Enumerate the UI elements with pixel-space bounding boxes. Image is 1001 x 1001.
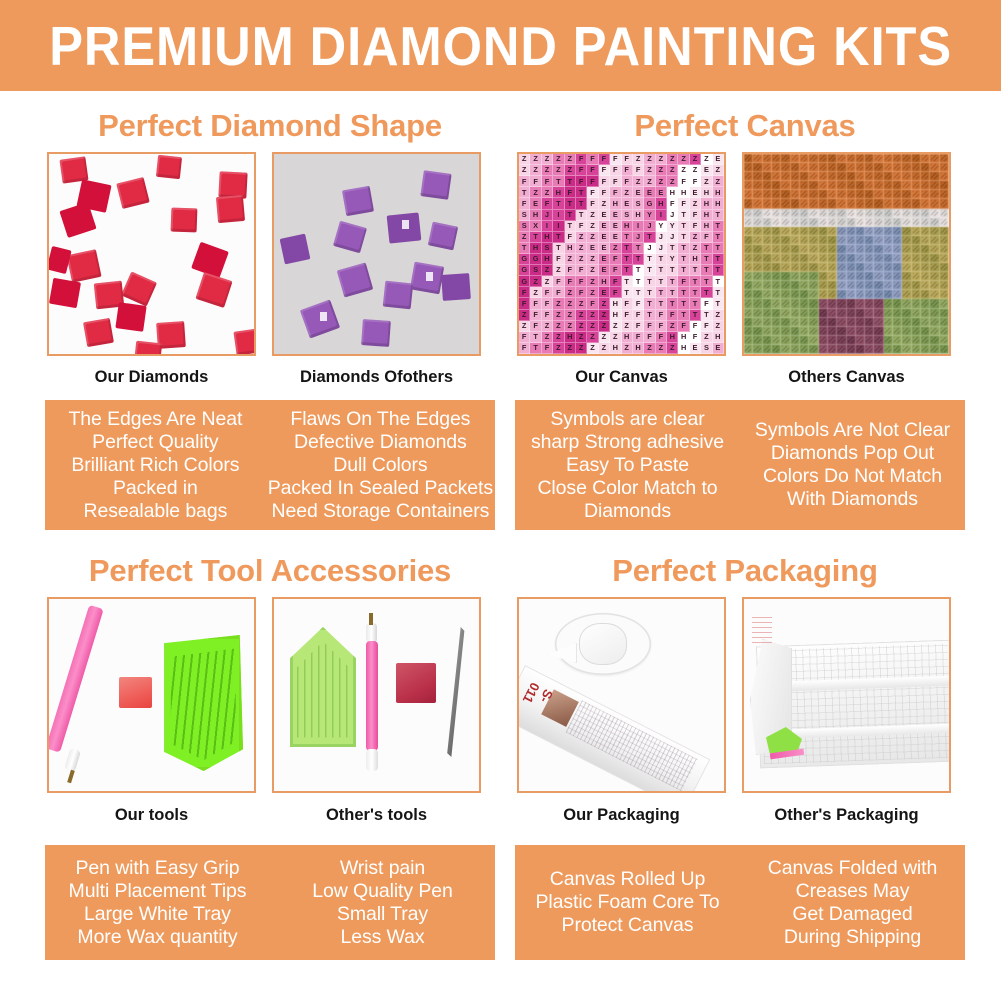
canvas-symbol-cell	[753, 245, 762, 254]
panel-packaging-others: Canvas Folded with Creases May Get Damag…	[740, 845, 965, 960]
canvas-symbol-cell	[856, 199, 865, 208]
canvas-symbol-cell: F	[656, 310, 667, 321]
canvas-symbol-cell: Z	[587, 265, 598, 276]
canvas-symbol-cell	[847, 227, 856, 236]
canvas-symbol-cell	[874, 172, 883, 181]
canvas-symbol-cell	[828, 154, 837, 163]
canvas-symbol-cell	[865, 209, 874, 218]
canvas-symbol-cell	[912, 263, 921, 272]
canvas-symbol-cell	[800, 254, 809, 263]
canvas-symbol-cell: F	[553, 276, 564, 287]
canvas-symbol-cell: X	[530, 221, 541, 232]
canvas-symbol-cell: Z	[530, 187, 541, 198]
canvas-symbol-cell: G	[530, 254, 541, 265]
canvas-symbol-cell	[819, 199, 828, 208]
canvas-symbol-cell	[874, 281, 883, 290]
canvas-symbol-cell: T	[678, 287, 689, 298]
canvas-symbol-cell	[744, 209, 753, 218]
canvas-symbol-cell	[800, 299, 809, 308]
photo-others-canvas	[742, 152, 951, 356]
canvas-symbol-cell	[772, 163, 781, 172]
panel-line: Easy To Paste	[566, 454, 689, 477]
canvas-symbol-cell: T	[622, 287, 633, 298]
panel-line: Canvas Folded with	[768, 857, 937, 880]
canvas-symbol-cell	[847, 281, 856, 290]
canvas-symbol-cell	[753, 254, 762, 263]
panel-line: Less Wax	[340, 926, 424, 949]
photo-others-packaging	[742, 597, 951, 793]
canvas-symbol-cell: F	[656, 332, 667, 343]
canvas-symbol-cell	[856, 290, 865, 299]
canvas-symbol-cell: Z	[530, 154, 541, 165]
caption-our-canvas: Our Canvas	[517, 368, 726, 387]
canvas-symbol-cell	[893, 254, 902, 263]
canvas-symbol-cell	[902, 327, 911, 336]
canvas-symbol-cell	[930, 336, 939, 345]
canvas-symbol-cell: Z	[542, 165, 553, 176]
canvas-symbol-cell: Z	[713, 321, 724, 332]
canvas-symbol-cell	[753, 336, 762, 345]
canvas-symbol-cell	[809, 272, 818, 281]
canvas-symbol-cell	[781, 336, 790, 345]
canvas-symbol-cell	[828, 181, 837, 190]
panel-line: Dull Colors	[333, 454, 427, 477]
canvas-symbol-cell	[856, 209, 865, 218]
canvas-symbol-cell	[781, 154, 790, 163]
panel-canvas-others: Symbols Are Not Clear Diamonds Pop Out C…	[740, 400, 965, 530]
section-title-tool-accessories: Perfect Tool Accessories	[40, 553, 500, 589]
canvas-symbol-cell	[781, 199, 790, 208]
canvas-symbol-cell: T	[576, 198, 587, 209]
canvas-symbol-cell	[781, 236, 790, 245]
others-canvas-symbol-grid	[744, 154, 949, 354]
canvas-symbol-cell	[902, 236, 911, 245]
canvas-symbol-cell: H	[610, 298, 621, 309]
canvas-symbol-cell: H	[565, 243, 576, 254]
canvas-symbol-cell: Z	[530, 276, 541, 287]
canvas-symbol-cell: H	[713, 198, 724, 209]
canvas-symbol-cell: F	[701, 232, 712, 243]
canvas-symbol-cell: Y	[667, 254, 678, 265]
canvas-symbol-cell	[865, 163, 874, 172]
canvas-symbol-cell: F	[667, 198, 678, 209]
panel-diamond-shape-others: Flaws On The Edges Defective Diamonds Du…	[266, 400, 495, 530]
canvas-symbol-cell	[847, 345, 856, 354]
canvas-symbol-cell	[865, 272, 874, 281]
canvas-symbol-cell	[865, 227, 874, 236]
canvas-symbol-cell	[884, 172, 893, 181]
canvas-symbol-cell: Z	[519, 321, 530, 332]
canvas-symbol-cell	[781, 318, 790, 327]
canvas-symbol-cell	[744, 254, 753, 263]
canvas-symbol-cell: J	[667, 232, 678, 243]
canvas-symbol-cell	[837, 245, 846, 254]
panel-canvas-ours: Symbols are clear sharp Strong adhesive …	[515, 400, 740, 530]
canvas-symbol-cell: F	[553, 254, 564, 265]
canvas-symbol-cell	[865, 281, 874, 290]
canvas-symbol-cell	[791, 181, 800, 190]
canvas-symbol-cell: F	[701, 298, 712, 309]
canvas-symbol-cell	[893, 263, 902, 272]
canvas-symbol-cell	[772, 299, 781, 308]
canvas-symbol-cell	[893, 227, 902, 236]
canvas-symbol-cell: Z	[587, 332, 598, 343]
canvas-symbol-cell: Z	[576, 254, 587, 265]
canvas-symbol-cell	[874, 345, 883, 354]
canvas-symbol-cell	[893, 245, 902, 254]
canvas-symbol-cell	[902, 227, 911, 236]
canvas-symbol-cell	[921, 154, 930, 163]
canvas-symbol-cell: T	[622, 254, 633, 265]
canvas-symbol-cell	[940, 327, 949, 336]
canvas-symbol-cell	[893, 345, 902, 354]
canvas-symbol-cell: I	[542, 221, 553, 232]
canvas-symbol-cell	[791, 236, 800, 245]
canvas-symbol-cell: E	[644, 187, 655, 198]
canvas-symbol-cell	[912, 181, 921, 190]
canvas-symbol-cell	[763, 190, 772, 199]
canvas-symbol-cell	[772, 318, 781, 327]
panel-line: During Shipping	[784, 926, 921, 949]
canvas-symbol-cell	[781, 218, 790, 227]
panel-line: Diamonds	[584, 500, 671, 523]
canvas-symbol-cell	[753, 272, 762, 281]
canvas-symbol-cell: F	[599, 165, 610, 176]
canvas-symbol-cell	[809, 172, 818, 181]
canvas-symbol-cell	[753, 318, 762, 327]
canvas-symbol-cell	[865, 245, 874, 254]
canvas-symbol-cell: Z	[713, 310, 724, 321]
canvas-symbol-cell	[837, 263, 846, 272]
canvas-symbol-cell: F	[542, 287, 553, 298]
canvas-symbol-cell	[865, 327, 874, 336]
canvas-symbol-cell: J	[644, 221, 655, 232]
canvas-symbol-cell	[847, 199, 856, 208]
panel-line: Symbols are clear	[550, 408, 704, 431]
panel-line: Brilliant Rich Colors	[71, 454, 239, 477]
canvas-symbol-cell: T	[678, 210, 689, 221]
canvas-symbol-cell: H	[701, 187, 712, 198]
canvas-symbol-cell	[874, 181, 883, 190]
canvas-symbol-cell: H	[565, 332, 576, 343]
canvas-symbol-cell: T	[565, 221, 576, 232]
canvas-symbol-cell	[828, 163, 837, 172]
canvas-symbol-cell	[856, 327, 865, 336]
canvas-symbol-cell: S	[530, 265, 541, 276]
canvas-symbol-cell	[912, 272, 921, 281]
canvas-symbol-cell	[772, 290, 781, 299]
canvas-symbol-cell	[772, 263, 781, 272]
canvas-symbol-cell	[847, 236, 856, 245]
canvas-symbol-cell	[837, 172, 846, 181]
canvas-symbol-cell	[874, 154, 883, 163]
canvas-symbol-cell	[800, 318, 809, 327]
panel-diamond-shape: The Edges Are Neat Perfect Quality Brill…	[45, 400, 495, 530]
canvas-symbol-cell: F	[530, 298, 541, 309]
canvas-symbol-cell	[847, 218, 856, 227]
canvas-symbol-cell: S	[542, 243, 553, 254]
panel-line: Close Color Match to	[537, 477, 717, 500]
canvas-symbol-cell: H	[678, 343, 689, 354]
canvas-symbol-cell	[819, 190, 828, 199]
canvas-symbol-cell	[856, 245, 865, 254]
canvas-symbol-cell: Z	[599, 343, 610, 354]
canvas-symbol-cell: T	[667, 276, 678, 287]
canvas-symbol-cell	[753, 154, 762, 163]
canvas-symbol-cell	[874, 218, 883, 227]
canvas-symbol-cell	[902, 190, 911, 199]
canvas-symbol-cell	[819, 309, 828, 318]
canvas-symbol-cell: I	[656, 210, 667, 221]
canvas-symbol-cell: F	[656, 321, 667, 332]
canvas-symbol-cell: E	[701, 165, 712, 176]
canvas-symbol-cell: F	[519, 176, 530, 187]
canvas-symbol-cell	[763, 254, 772, 263]
canvas-symbol-cell: T	[713, 287, 724, 298]
canvas-symbol-cell: F	[633, 332, 644, 343]
canvas-symbol-cell	[865, 309, 874, 318]
canvas-symbol-cell	[828, 199, 837, 208]
canvas-symbol-cell	[902, 254, 911, 263]
canvas-symbol-cell: F	[599, 154, 610, 165]
canvas-symbol-cell	[902, 245, 911, 254]
canvas-symbol-cell	[884, 327, 893, 336]
canvas-symbol-cell: F	[678, 176, 689, 187]
canvas-symbol-cell	[781, 309, 790, 318]
canvas-symbol-cell	[791, 154, 800, 163]
canvas-symbol-cell	[753, 209, 762, 218]
canvas-symbol-cell	[921, 254, 930, 263]
canvas-symbol-cell: T	[622, 276, 633, 287]
canvas-symbol-cell	[828, 290, 837, 299]
canvas-symbol-cell	[893, 299, 902, 308]
canvas-symbol-cell	[940, 309, 949, 318]
our-canvas-symbol-grid: ZZZZZFFFFFZZZZZZZEZZZZZFFFFFFZZZZZEZFFFT…	[519, 154, 724, 354]
canvas-symbol-cell: Z	[678, 154, 689, 165]
canvas-symbol-cell: H	[599, 276, 610, 287]
panel-line: With Diamonds	[787, 488, 918, 511]
canvas-symbol-cell	[856, 336, 865, 345]
canvas-symbol-cell	[744, 236, 753, 245]
canvas-symbol-cell: H	[622, 332, 633, 343]
canvas-symbol-cell	[819, 281, 828, 290]
canvas-symbol-cell	[893, 272, 902, 281]
canvas-symbol-cell	[874, 209, 883, 218]
canvas-symbol-cell: Z	[678, 165, 689, 176]
canvas-symbol-cell	[940, 290, 949, 299]
canvas-symbol-cell	[828, 245, 837, 254]
canvas-symbol-cell: Z	[633, 154, 644, 165]
canvas-symbol-cell	[763, 309, 772, 318]
canvas-symbol-cell: Z	[667, 321, 678, 332]
canvas-symbol-cell: T	[678, 254, 689, 265]
canvas-symbol-cell	[847, 181, 856, 190]
canvas-symbol-cell	[856, 254, 865, 263]
canvas-symbol-cell	[884, 181, 893, 190]
canvas-symbol-cell	[809, 318, 818, 327]
canvas-symbol-cell	[884, 336, 893, 345]
canvas-symbol-cell	[744, 290, 753, 299]
canvas-symbol-cell: J	[667, 210, 678, 221]
canvas-symbol-cell	[902, 163, 911, 172]
canvas-symbol-cell	[744, 218, 753, 227]
caption-others-tools: Other's tools	[272, 806, 481, 825]
canvas-symbol-cell	[912, 227, 921, 236]
canvas-symbol-cell	[809, 263, 818, 272]
canvas-symbol-cell: Z	[701, 154, 712, 165]
section-title-packaging: Perfect Packaging	[510, 553, 980, 589]
canvas-symbol-cell	[791, 218, 800, 227]
canvas-symbol-cell: F	[565, 276, 576, 287]
canvas-symbol-cell: H	[633, 343, 644, 354]
canvas-symbol-cell: E	[610, 210, 621, 221]
canvas-symbol-cell: Z	[565, 154, 576, 165]
canvas-symbol-cell	[874, 245, 883, 254]
canvas-symbol-cell	[912, 281, 921, 290]
canvas-symbol-cell: Z	[690, 154, 701, 165]
canvas-symbol-cell: T	[690, 298, 701, 309]
canvas-symbol-cell	[921, 209, 930, 218]
canvas-symbol-cell	[819, 318, 828, 327]
panel-line: Diamonds Pop Out	[771, 442, 934, 465]
canvas-symbol-cell: E	[599, 265, 610, 276]
canvas-symbol-cell	[819, 263, 828, 272]
canvas-symbol-cell	[781, 254, 790, 263]
canvas-symbol-cell	[930, 154, 939, 163]
canvas-symbol-cell	[781, 181, 790, 190]
canvas-symbol-cell	[930, 227, 939, 236]
canvas-symbol-cell: T	[678, 298, 689, 309]
canvas-symbol-cell	[819, 299, 828, 308]
canvas-symbol-cell	[865, 236, 874, 245]
canvas-symbol-cell	[940, 345, 949, 354]
canvas-symbol-cell	[819, 245, 828, 254]
panel-line: Pen with Easy Grip	[75, 857, 239, 880]
canvas-symbol-cell: Z	[519, 154, 530, 165]
canvas-symbol-cell: Z	[519, 310, 530, 321]
canvas-symbol-cell: H	[713, 332, 724, 343]
canvas-symbol-cell: E	[610, 232, 621, 243]
canvas-symbol-cell: T	[644, 276, 655, 287]
canvas-symbol-cell	[865, 263, 874, 272]
canvas-symbol-cell: T	[713, 276, 724, 287]
canvas-symbol-cell: Z	[576, 243, 587, 254]
canvas-symbol-cell	[921, 190, 930, 199]
canvas-symbol-cell: F	[530, 310, 541, 321]
canvas-symbol-cell	[930, 290, 939, 299]
canvas-symbol-cell	[930, 254, 939, 263]
canvas-symbol-cell: J	[656, 243, 667, 254]
panel-line: Symbols Are Not Clear	[755, 419, 950, 442]
canvas-symbol-cell	[744, 227, 753, 236]
canvas-symbol-cell	[800, 154, 809, 163]
canvas-symbol-cell	[940, 172, 949, 181]
canvas-symbol-cell	[753, 199, 762, 208]
canvas-symbol-cell	[874, 163, 883, 172]
canvas-symbol-cell: F	[622, 176, 633, 187]
canvas-symbol-cell	[781, 163, 790, 172]
canvas-symbol-cell	[902, 218, 911, 227]
canvas-symbol-cell	[856, 263, 865, 272]
canvas-symbol-cell	[940, 190, 949, 199]
canvas-symbol-cell: Z	[587, 254, 598, 265]
panel-line: sharp Strong adhesive	[531, 431, 724, 454]
canvas-symbol-cell	[865, 336, 874, 345]
canvas-symbol-cell	[791, 281, 800, 290]
canvas-symbol-cell	[856, 318, 865, 327]
canvas-symbol-cell	[791, 290, 800, 299]
canvas-symbol-cell: E	[713, 154, 724, 165]
canvas-symbol-cell	[800, 272, 809, 281]
canvas-symbol-cell: T	[667, 298, 678, 309]
canvas-symbol-cell: Z	[542, 265, 553, 276]
canvas-symbol-cell	[753, 281, 762, 290]
canvas-symbol-cell	[930, 345, 939, 354]
canvas-symbol-cell: F	[542, 343, 553, 354]
canvas-symbol-cell: S	[633, 198, 644, 209]
canvas-symbol-cell	[837, 309, 846, 318]
our-diamonds-artwork	[49, 154, 254, 354]
canvas-symbol-cell: H	[678, 332, 689, 343]
canvas-symbol-cell	[930, 318, 939, 327]
canvas-symbol-cell: Z	[576, 310, 587, 321]
our-packaging-artwork: S-011	[519, 599, 724, 791]
canvas-symbol-cell	[930, 299, 939, 308]
canvas-symbol-cell	[837, 181, 846, 190]
canvas-symbol-cell	[819, 227, 828, 236]
canvas-symbol-cell	[809, 154, 818, 163]
canvas-symbol-cell: Z	[610, 321, 621, 332]
canvas-symbol-cell: J	[644, 243, 655, 254]
canvas-symbol-cell	[874, 290, 883, 299]
canvas-symbol-cell	[763, 199, 772, 208]
canvas-symbol-cell	[772, 309, 781, 318]
panel-tool-accessories: Pen with Easy Grip Multi Placement Tips …	[45, 845, 495, 960]
canvas-symbol-cell: T	[565, 198, 576, 209]
canvas-symbol-cell: T	[690, 265, 701, 276]
canvas-symbol-cell: Z	[587, 210, 598, 221]
canvas-symbol-cell: F	[622, 298, 633, 309]
canvas-symbol-cell: G	[519, 265, 530, 276]
canvas-symbol-cell: H	[610, 198, 621, 209]
canvas-symbol-cell: F	[519, 298, 530, 309]
canvas-symbol-cell	[763, 290, 772, 299]
canvas-symbol-cell: Z	[610, 243, 621, 254]
canvas-symbol-cell	[763, 218, 772, 227]
canvas-symbol-cell: T	[519, 243, 530, 254]
canvas-symbol-cell	[828, 227, 837, 236]
canvas-symbol-cell	[837, 336, 846, 345]
canvas-symbol-cell: I	[633, 221, 644, 232]
canvas-symbol-cell	[819, 345, 828, 354]
canvas-symbol-cell: Z	[599, 198, 610, 209]
canvas-symbol-cell	[809, 227, 818, 236]
canvas-symbol-cell	[800, 227, 809, 236]
canvas-symbol-cell	[921, 172, 930, 181]
canvas-symbol-cell: Z	[656, 343, 667, 354]
canvas-symbol-cell: T	[690, 310, 701, 321]
canvas-symbol-cell	[781, 245, 790, 254]
canvas-symbol-cell	[893, 190, 902, 199]
canvas-symbol-cell	[940, 227, 949, 236]
canvas-symbol-cell: H	[542, 254, 553, 265]
canvas-symbol-cell: E	[599, 287, 610, 298]
canvas-symbol-cell	[753, 181, 762, 190]
canvas-symbol-cell	[940, 181, 949, 190]
canvas-symbol-cell	[865, 190, 874, 199]
canvas-symbol-cell	[828, 318, 837, 327]
canvas-symbol-cell: F	[576, 165, 587, 176]
